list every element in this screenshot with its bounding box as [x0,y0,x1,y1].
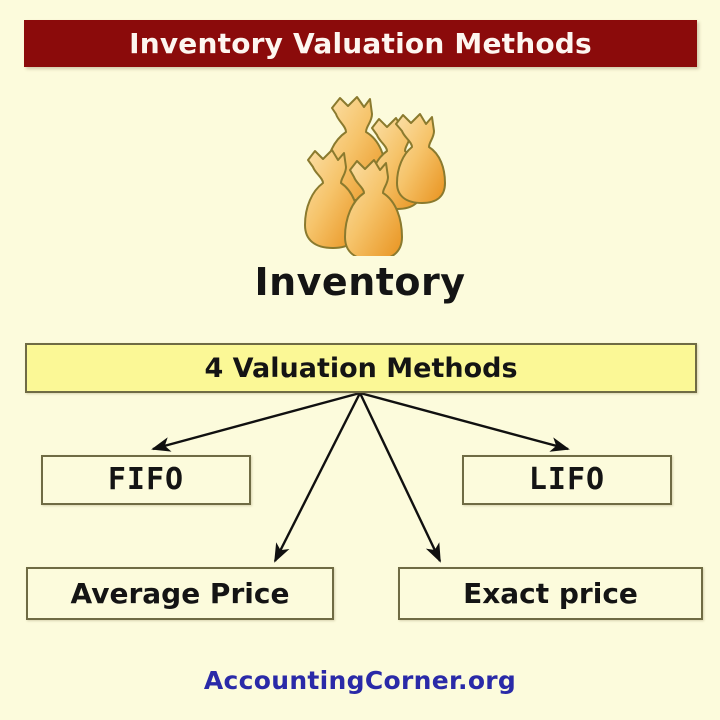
arrow-to-fifo [153,393,360,449]
page-title: Inventory Valuation Methods [129,27,592,60]
money-sacks-icon [288,88,448,256]
method-label-fifo: FIFO [108,465,184,495]
footer-site-link[interactable]: AccountingCorner.org [0,666,720,695]
method-box-fifo[interactable]: FIFO [41,455,251,505]
title-banner: Inventory Valuation Methods [24,20,697,67]
method-box-average-price[interactable]: Average Price [26,567,334,620]
method-box-exact-price[interactable]: Exact price [398,567,703,620]
method-label-average-price: Average Price [71,580,290,608]
valuation-methods-label: 4 Valuation Methods [204,355,517,382]
arrow-to-exact-price [360,393,440,561]
method-box-lifo[interactable]: LIFO [462,455,672,505]
method-label-exact-price: Exact price [463,580,638,608]
inventory-valuation-infographic: Inventory Valuation Methods [0,0,720,720]
arrow-to-average-price [275,393,360,561]
inventory-caption: Inventory [0,260,720,304]
valuation-methods-box[interactable]: 4 Valuation Methods [25,343,697,393]
method-label-lifo: LIFO [529,465,605,495]
arrow-to-lifo [360,393,568,449]
